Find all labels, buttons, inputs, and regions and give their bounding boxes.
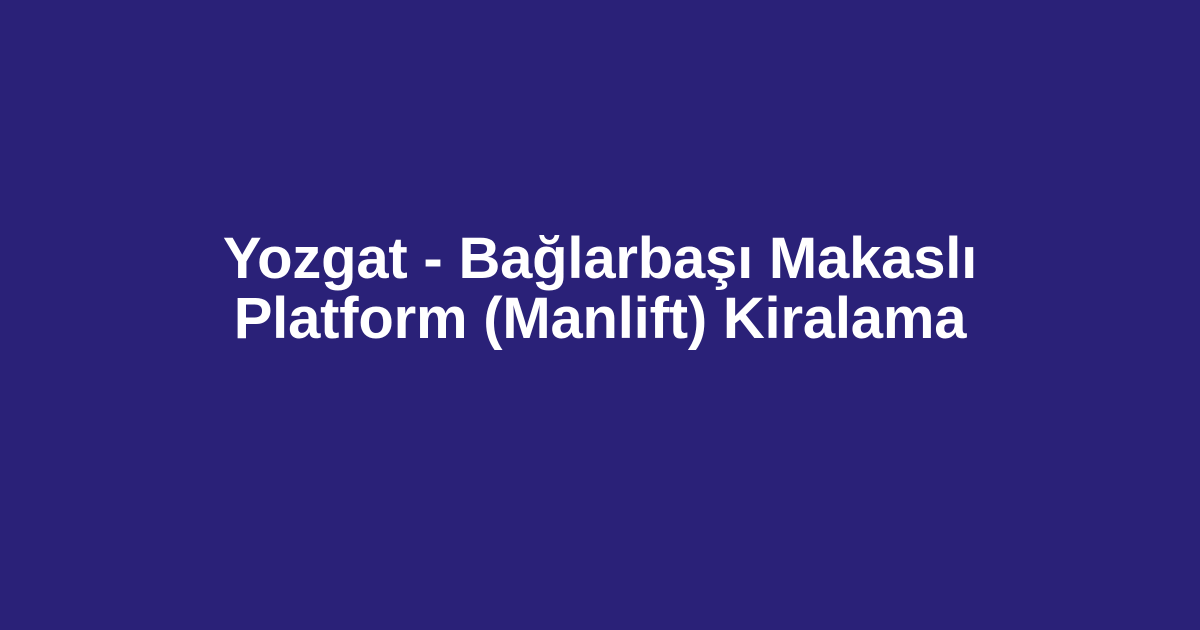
page-title: Yozgat - Bağlarbaşı Makaslı Platform (Ma… <box>120 229 1080 349</box>
share-card: Yozgat - Bağlarbaşı Makaslı Platform (Ma… <box>0 0 1200 630</box>
